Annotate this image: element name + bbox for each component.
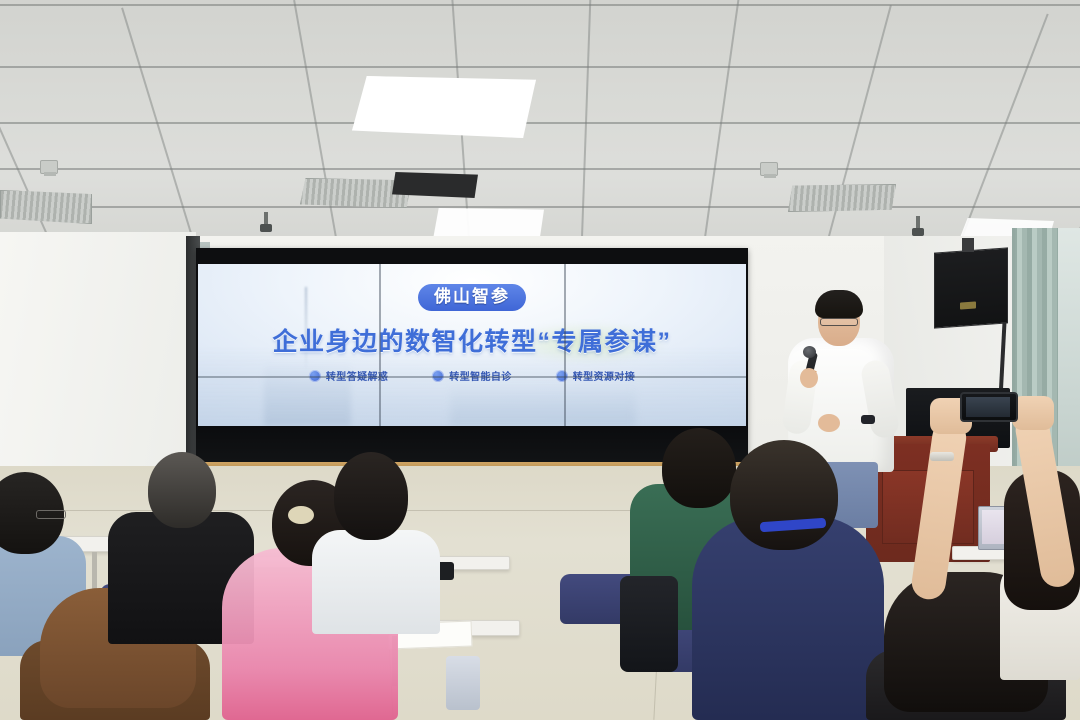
- ceiling: [0, 0, 1080, 252]
- video-wall-bezel-seam: [198, 376, 746, 378]
- led-panel-light: [352, 76, 536, 138]
- air-vent: [0, 190, 92, 224]
- microphone-head: [803, 346, 816, 358]
- pendant-sensor: [264, 212, 268, 228]
- video-wall-screen[interactable]: 佛山智参 企业身边的数智化转型“专属参谋” 转型答疑解惑 转型智能自诊 转型资源…: [198, 264, 746, 426]
- air-vent: [788, 184, 896, 212]
- eyeglasses: [36, 510, 66, 519]
- smartphone-screen: [966, 397, 1010, 417]
- wristwatch: [861, 415, 875, 424]
- hand: [1012, 396, 1054, 430]
- loudspeaker: [934, 247, 1008, 328]
- meeting-room-photo: 佛山智参 企业身边的数智化转型“专属参谋” 转型答疑解惑 转型智能自诊 转型资源…: [0, 0, 1080, 720]
- hair-scrunchie: [288, 506, 314, 524]
- projector-mount: [392, 172, 478, 198]
- loudspeaker-bracket: [962, 238, 974, 252]
- pendant-sensor: [916, 216, 920, 232]
- presenter-hair: [815, 290, 863, 318]
- presenter-right-hand: [818, 414, 840, 432]
- video-wall-bezel-seam: [564, 264, 566, 426]
- presenter-left-hand: [800, 368, 818, 388]
- backpack: [620, 576, 678, 672]
- bracelet: [930, 452, 954, 461]
- loudspeaker-logo: [960, 301, 976, 309]
- slide-content: 佛山智参 企业身边的数智化转型“专属参谋” 转型答疑解惑 转型智能自诊 转型资源…: [198, 264, 746, 426]
- slide-badge: 佛山智参: [418, 284, 526, 311]
- smoke-detector: [40, 160, 58, 174]
- slide-headline: 企业身边的数智化转型“专属参谋”: [272, 322, 671, 358]
- tote-bag: [446, 656, 480, 710]
- eyeglasses: [820, 318, 858, 326]
- video-wall-bezel-seam: [379, 264, 381, 426]
- smoke-detector: [760, 162, 778, 176]
